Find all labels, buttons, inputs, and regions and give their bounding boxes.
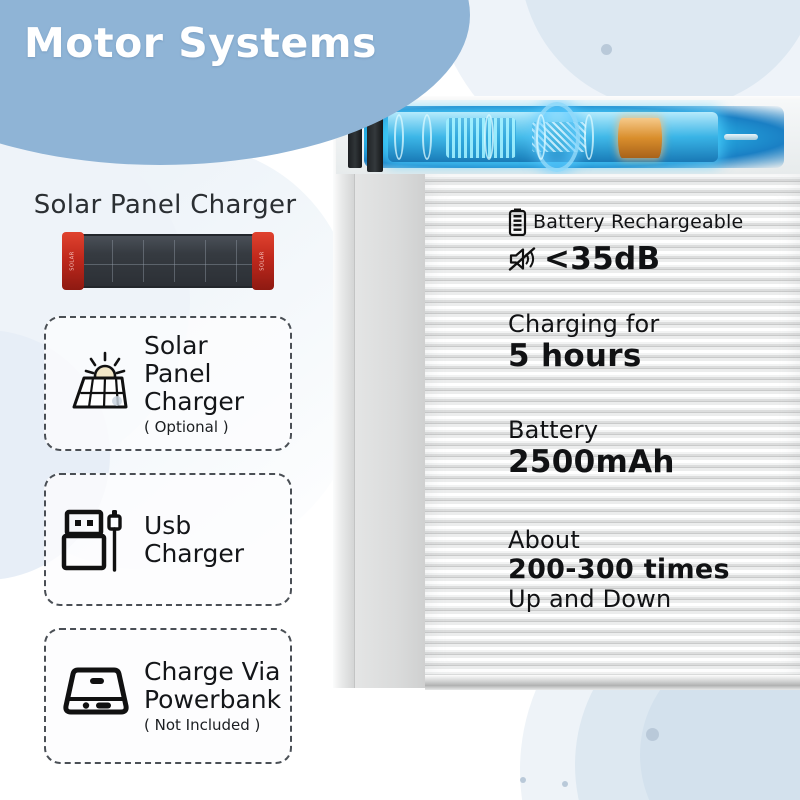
solar-panel-end-cap-right: SOLAR [252,232,274,290]
page-title: Motor Systems [24,19,384,67]
feature-line-1: Solar Panel [144,332,278,388]
spec-noise-level: <35dB [508,241,660,277]
motor-ring [584,114,594,160]
powerbank-icon [58,662,134,730]
solar-panel-heading: Solar Panel Charger [0,190,330,220]
motor-ring [536,114,546,160]
infographic-canvas: Battery Rechargeable <35dB Charging for … [0,0,800,800]
solar-panel-sun-icon [60,351,132,417]
motor-drive-shaft [724,134,758,140]
solar-panel-body [75,234,261,288]
spec-label: Battery [508,416,675,444]
motor-illustration [336,100,800,174]
feature-line-2: Charger [144,388,278,416]
spec-value: <35dB [544,241,660,277]
usb-charger-icon [59,502,133,578]
solar-panel-cell-grid [81,240,255,282]
feature-text: Charge Via Powerbank ( Not Included ) [144,658,281,734]
motor-ring-group [388,112,718,162]
bg-dot-top [601,44,612,55]
spec-sublabel: Up and Down [508,585,730,613]
battery-icon [508,208,527,236]
solar-panel-end-cap-left: SOLAR [62,232,84,290]
motor-ring [484,114,494,160]
motor-ring [394,114,404,160]
spec-label: Charging for [508,310,660,338]
bg-dot-bottom-b [562,781,568,787]
feature-line-2: Powerbank [144,686,281,714]
feature-card-solar-panel-charger[interactable]: Solar Panel Charger ( Optional ) [44,316,292,451]
feature-card-powerbank[interactable]: Charge Via Powerbank ( Not Included ) [44,628,292,764]
door-floor-shadow [425,686,800,690]
shutter-bottom-rail [425,675,800,686]
spec-battery-capacity: Battery 2500mAh [508,416,675,480]
feature-text: Usb Charger [144,512,244,568]
feature-line-2: Charger [144,540,244,568]
spec-value: 2500mAh [508,444,675,480]
feature-line-1: Charge Via [144,658,281,686]
feature-note: ( Not Included ) [144,716,281,734]
feature-line-1: Usb [144,512,244,540]
feature-icon-wrap [58,662,134,730]
mute-speaker-icon [508,245,538,273]
spec-value: Battery Rechargeable [533,211,743,233]
spec-label: About [508,526,730,554]
bg-dot-bottom-a [646,728,659,741]
solar-panel-cap-label: SOLAR [70,251,76,270]
feature-note: ( Optional ) [144,418,278,436]
feature-icon-wrap [58,502,134,578]
door-side-rail-inner [355,166,425,688]
motor-ring [422,114,432,160]
spec-value: 5 hours [508,338,660,374]
solar-panel-cap-label: SOLAR [260,251,266,270]
door-side-rail-outer [333,96,355,688]
spec-value: 200-300 times [508,554,730,585]
solar-panel-product-image: SOLAR SOLAR [62,232,274,290]
spec-charging-time: Charging for 5 hours [508,310,660,374]
feature-icon-wrap [58,351,134,417]
bg-dot-bottom-c [520,777,526,783]
feature-card-usb-charger[interactable]: Usb Charger [44,473,292,606]
spec-battery-rechargeable: Battery Rechargeable [508,208,743,236]
feature-text: Solar Panel Charger ( Optional ) [144,332,278,436]
roller-shutter-door-scene: Battery Rechargeable <35dB Charging for … [320,96,800,688]
spec-cycle-count: About 200-300 times Up and Down [508,526,730,613]
